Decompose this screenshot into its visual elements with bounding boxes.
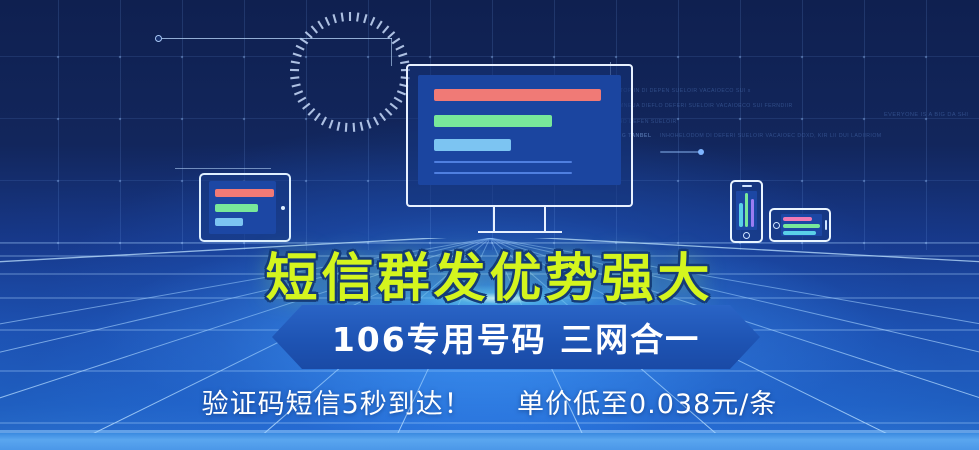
desktop-monitor — [406, 64, 633, 207]
monitor-base — [478, 231, 562, 233]
message-line — [434, 172, 572, 174]
page-title: 短信群发优势强大 — [0, 236, 979, 311]
node-dot-icon — [155, 35, 162, 42]
message-bar-green — [434, 115, 552, 127]
filler-text-line: L IMNEUA DIEFLO DEFERI SUELOIR VACAIOECO… — [612, 103, 793, 109]
marketing-banner: ETOP IN DI DEPEN SUELOIR VACAIOECO SUI x… — [0, 0, 979, 450]
phone-speaker-icon — [742, 185, 752, 187]
tablet-home-button-icon — [281, 206, 285, 210]
leader-line-vertical — [391, 38, 392, 66]
tablet-screen — [209, 181, 276, 234]
message-bar-red — [215, 189, 274, 197]
ribbon-label: 106专用号码 三网合一 — [272, 305, 760, 369]
phone-landscape-screen — [781, 214, 822, 236]
monitor-screen — [418, 75, 621, 185]
filler-slider-icon — [660, 151, 702, 153]
chart-bar-purple — [751, 199, 755, 227]
message-bar-blue — [215, 218, 243, 226]
subtitle-right: 单价低至0.038元/条 — [517, 389, 777, 420]
message-bar-green — [215, 204, 258, 212]
tick-circle-icon — [286, 8, 414, 136]
chart-bar-cyan — [739, 203, 743, 227]
phone-portrait-device — [730, 180, 763, 243]
message-bar-pink — [783, 217, 813, 221]
chart-bar-green — [745, 193, 749, 227]
monitor-neck — [493, 207, 546, 233]
filler-text-line: INHOHELODOM DI DEFERI SUELOIR VACAIOEC D… — [660, 133, 882, 139]
bottom-accent-band — [0, 433, 979, 450]
subtitle-row: 验证码短信5秒到达！ 单价低至0.038元/条 — [0, 382, 979, 421]
message-bar-cyan — [783, 231, 817, 235]
tablet-device — [199, 173, 291, 242]
filler-text-line: ETOP IN DI DEPEN SUELOIR VACAIOECO SUI x — [616, 88, 751, 94]
phone-speaker-icon — [825, 220, 827, 230]
leader-line — [162, 38, 392, 39]
phone-portrait-screen — [736, 191, 757, 230]
filler-text-right: EVERYONE IS A BIG DA SHI — [884, 112, 968, 118]
message-bar-red — [434, 89, 600, 101]
phone-home-button-icon — [773, 222, 780, 229]
subtitle-left: 验证码短信5秒到达！ — [202, 389, 472, 420]
message-bar-blue — [434, 139, 511, 151]
message-line — [434, 161, 572, 163]
bracket-line-left — [175, 168, 271, 169]
message-bar-green — [783, 224, 821, 228]
